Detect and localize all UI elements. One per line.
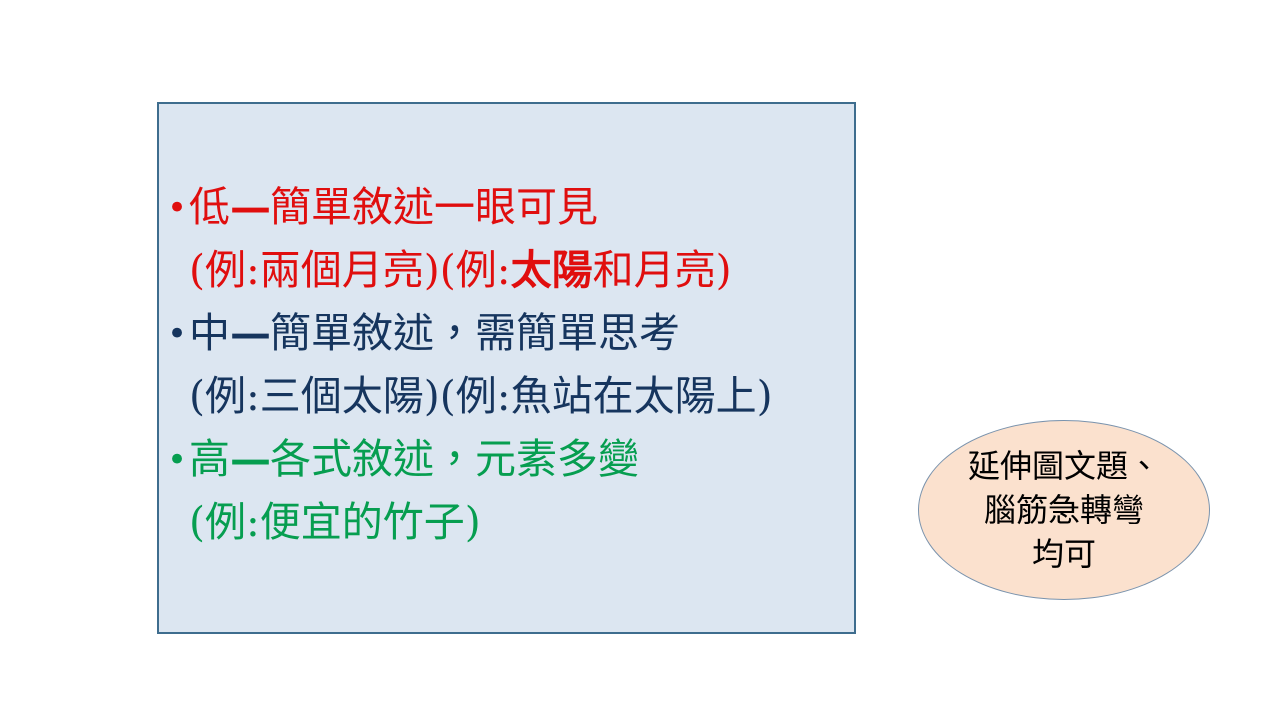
side-note-line: 腦筋急轉彎	[984, 488, 1144, 532]
bullet-dot-icon: •	[167, 443, 189, 477]
line-text: (例:便宜的竹子)	[189, 498, 481, 546]
bullet-item-continuation: (例:便宜的竹子)	[167, 491, 850, 554]
bullet-item: •中—簡單敘述，需簡單思考	[167, 302, 850, 365]
line-text: 中	[189, 309, 230, 357]
line-text: 各式敘述，元素多變	[270, 435, 639, 483]
difficulty-level-list: •低—簡單敘述一眼可見(例:兩個月亮)(例:太陽和月亮)•中—簡單敘述，需簡單思…	[167, 176, 850, 554]
line-text: 和月亮)	[593, 246, 732, 294]
line-text: (例:兩個月亮)(例:	[189, 246, 511, 294]
line-text: —	[230, 435, 270, 483]
line-text: —	[230, 309, 270, 357]
line-text: 簡單敘述一眼可見	[270, 183, 598, 231]
line-text: 高	[189, 435, 230, 483]
bullet-item: •低—簡單敘述一眼可見	[167, 176, 850, 239]
line-text: 低	[189, 183, 230, 231]
bullet-dot-icon: •	[167, 191, 189, 225]
line-text: —	[230, 183, 270, 231]
bullet-dot-icon: •	[167, 317, 189, 351]
side-note-line: 延伸圖文題、	[968, 444, 1160, 488]
bullet-item-continuation: (例:兩個月亮)(例:太陽和月亮)	[167, 239, 850, 302]
content-box: •低—簡單敘述一眼可見(例:兩個月亮)(例:太陽和月亮)•中—簡單敘述，需簡單思…	[157, 102, 856, 634]
bullet-item-continuation: (例:三個太陽)(例:魚站在太陽上)	[167, 365, 850, 428]
side-note-line: 均可	[1032, 532, 1096, 576]
side-note-ellipse: 延伸圖文題、腦筋急轉彎均可	[918, 420, 1210, 600]
emphasized-text: 太陽	[511, 246, 593, 294]
line-text: (例:三個太陽)(例:魚站在太陽上)	[189, 372, 773, 420]
line-text: 簡單敘述，需簡單思考	[270, 309, 680, 357]
bullet-item: •高—各式敘述，元素多變	[167, 428, 850, 491]
